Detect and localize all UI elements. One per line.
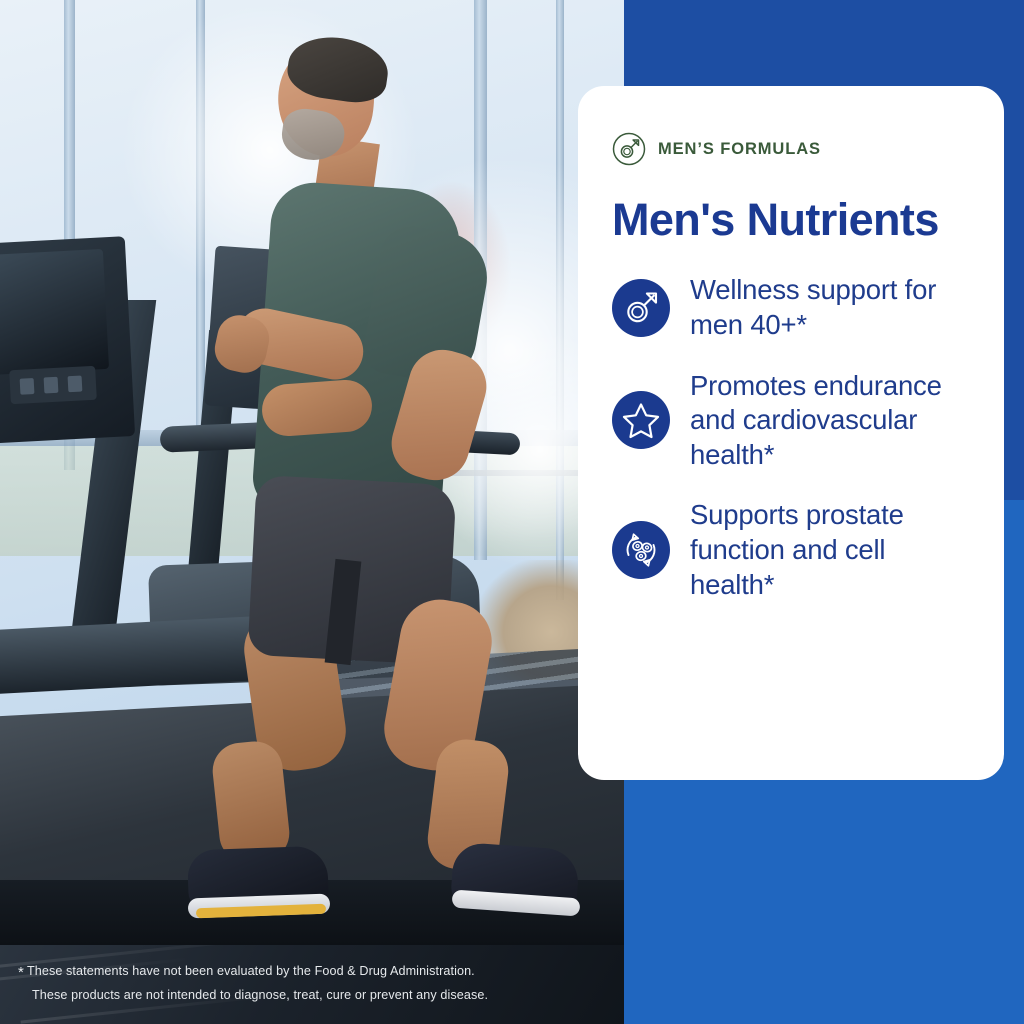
benefit-text: Promotes endurance and cardiovascular he… [690,369,970,473]
benefit-item: Wellness support for men 40+* [612,273,970,342]
male-symbol-icon [612,279,670,337]
disclaimer-line-1: These statements have not been evaluated… [27,964,475,978]
disclaimer-bar: *These statements have not been evaluate… [0,945,624,1024]
benefit-item: Promotes endurance and cardiovascular he… [612,369,970,473]
runner-figure [0,0,624,945]
benefit-text: Supports prostate function and cell heal… [690,498,970,602]
benefit-text: Wellness support for men 40+* [690,273,970,342]
cell-renewal-icon [612,521,670,579]
hero-photo [0,0,624,945]
category-eyebrow: MEN’S FORMULAS [612,132,970,166]
product-title: Men's Nutrients [612,196,970,243]
benefits-list: Wellness support for men 40+* Promotes e… [612,273,970,602]
disclaimer-text: *These statements have not been evaluate… [0,945,624,1006]
background-panel-top-blue [620,0,1024,96]
disclaimer-line-2: These products are not intended to diagn… [18,988,488,1002]
promo-graphic: *These statements have not been evaluate… [0,0,1024,1024]
runner-forearm [260,378,373,438]
category-label: MEN’S FORMULAS [658,140,821,159]
disclaimer-asterisk: * [18,964,24,981]
male-symbol-circle-icon [612,132,646,166]
star-icon [612,391,670,449]
benefit-item: Supports prostate function and cell heal… [612,498,970,602]
product-info-card: MEN’S FORMULAS Men's Nutrients Wellness … [578,86,1004,780]
